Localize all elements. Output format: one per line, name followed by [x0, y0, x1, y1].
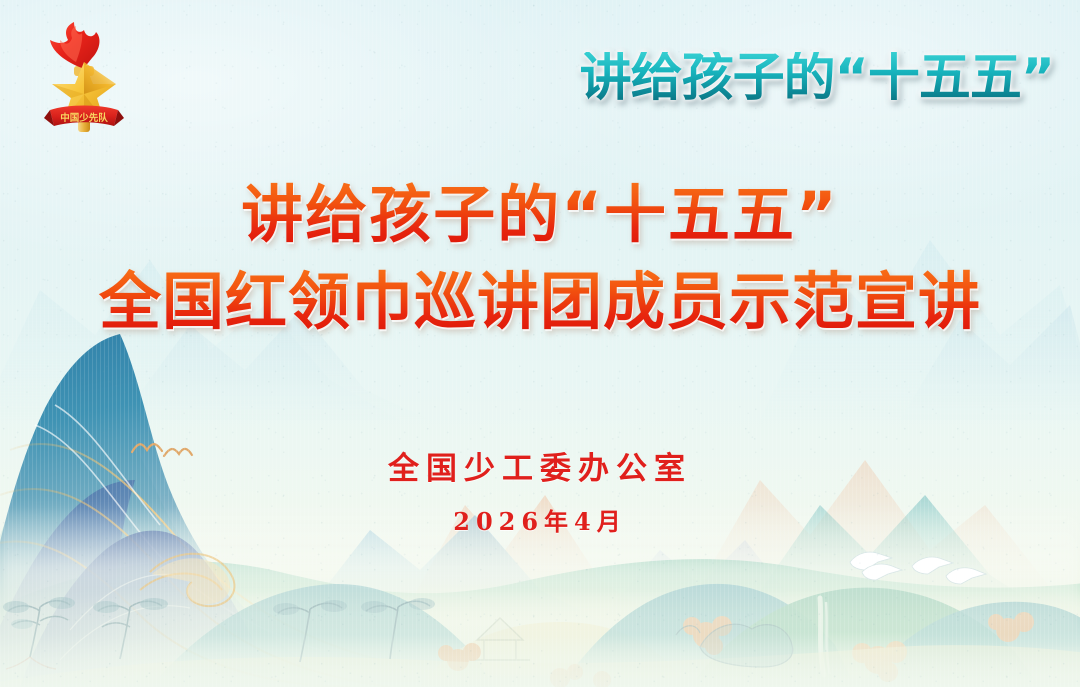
emblem-banner-text: 中国少先队	[60, 112, 108, 124]
program-logo-mark: 讲给孩子的“十五五”	[580, 52, 1054, 104]
main-title: 讲给孩子的“十五五” 全国红领巾巡讲团成员示范宣讲	[0, 178, 1080, 338]
title-line-2: 全国红领巾巡讲团成员示范宣讲	[0, 265, 1080, 338]
title-line-1: 讲给孩子的“十五五”	[0, 178, 1080, 251]
organization-name: 全国少工委办公室	[0, 443, 1080, 488]
poster-date: 2026年4月	[0, 502, 1080, 537]
young-pioneers-emblem-icon: 中国少先队	[36, 22, 132, 144]
subtitle-block: 全国少工委办公室 2026年4月	[0, 443, 1080, 537]
poster-canvas: 中国少先队 讲给孩子的“十五五” 讲给孩子的“十五五” 全国红领巾巡讲团成员示范…	[0, 0, 1080, 687]
